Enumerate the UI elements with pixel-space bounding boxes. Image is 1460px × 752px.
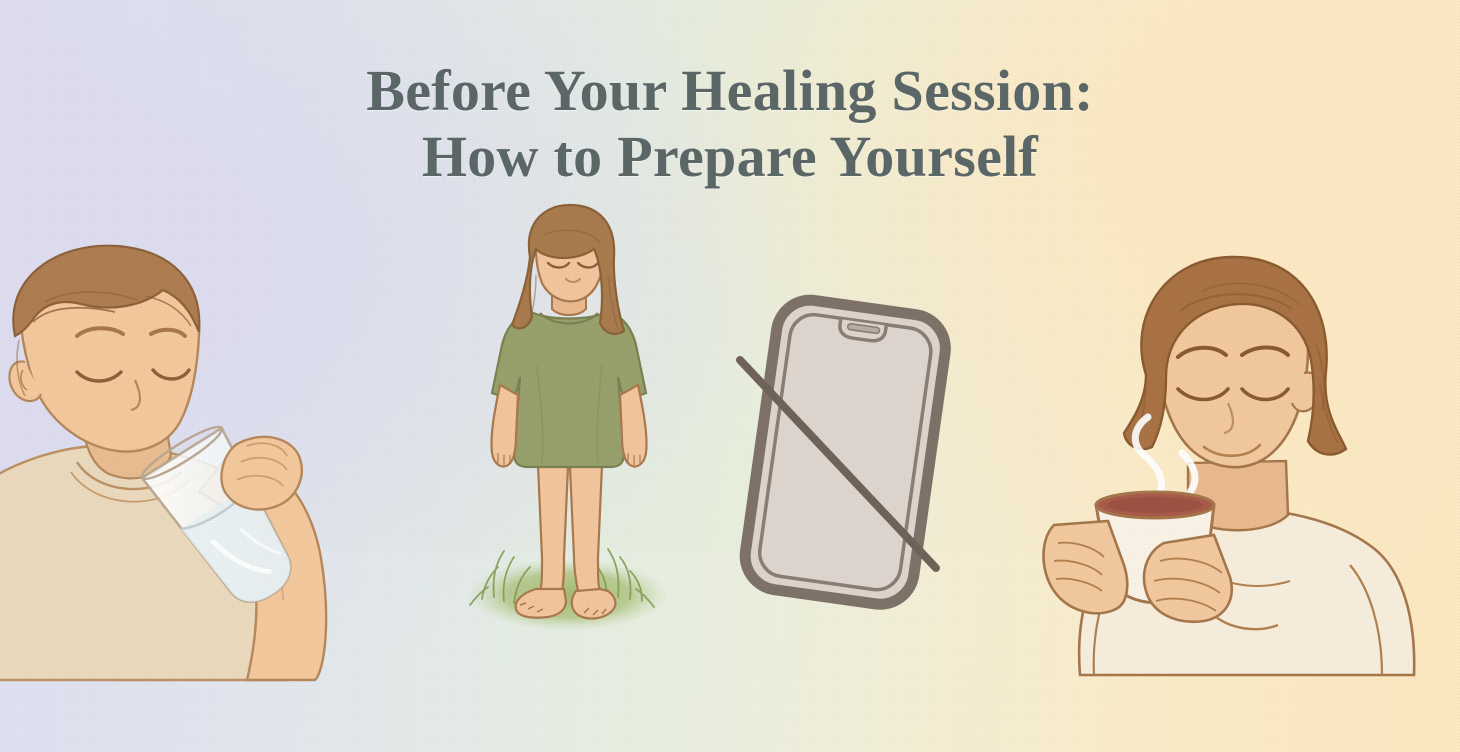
healing-session-banner: Before Your Healing Session: How to Prep… — [0, 0, 1460, 752]
paper-grain-overlay — [0, 0, 1460, 752]
